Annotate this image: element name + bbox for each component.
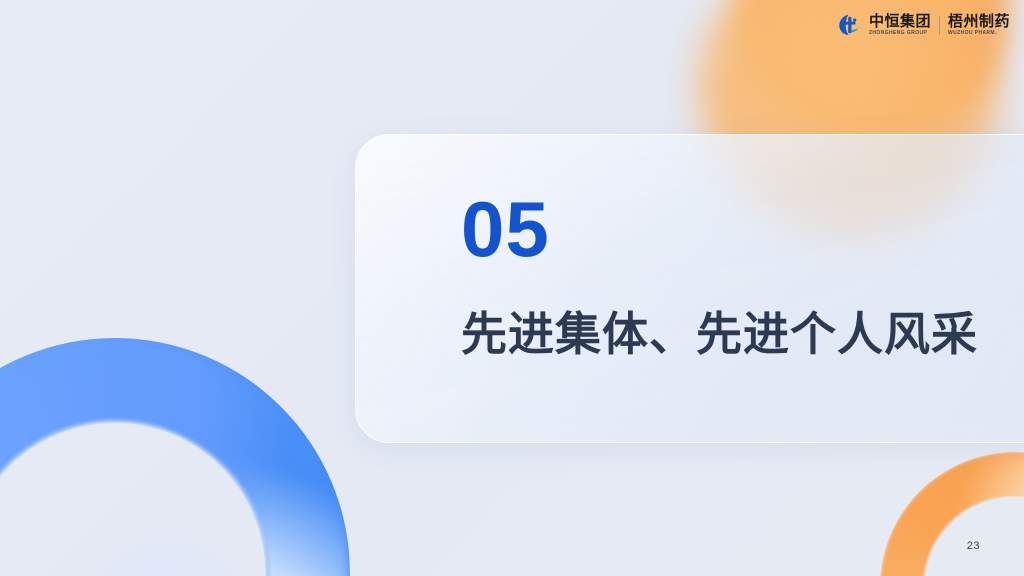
- section-title: 先进集体、先进个人风采: [461, 308, 1024, 361]
- logo-brand-en: ZHONGHENG GROUP: [869, 31, 931, 36]
- logo-wordmark: 中恒集团 ZHONGHENG GROUP 梧州制药 WUZHOU PHARM.: [869, 14, 1010, 37]
- slide-canvas: 05 先进集体、先进个人风采 中恒集团 ZHONGHENG GROUP 梧州制药…: [0, 0, 1024, 576]
- logo-subbrand-cn: 梧州制药: [948, 14, 1010, 29]
- blue-ring-decoration: [0, 338, 350, 576]
- section-card: 05 先进集体、先进个人风采: [355, 134, 1024, 443]
- orange-ring-decoration: [880, 452, 1024, 576]
- orange-ring-shading: [880, 452, 1024, 576]
- card-content: 05 先进集体、先进个人风采: [461, 190, 1024, 361]
- logo-divider: [939, 16, 940, 35]
- logo-brand-secondary: 梧州制药 WUZHOU PHARM.: [948, 14, 1010, 37]
- company-logo: 中恒集团 ZHONGHENG GROUP 梧州制药 WUZHOU PHARM.: [836, 10, 1010, 40]
- zhongheng-logo-mark-icon: [836, 12, 862, 38]
- blue-ring-shading: [0, 338, 350, 576]
- section-number: 05: [461, 190, 1024, 268]
- logo-brand-primary: 中恒集团 ZHONGHENG GROUP: [869, 14, 931, 37]
- logo-brand-cn: 中恒集团: [869, 14, 931, 29]
- page-number: 23: [967, 540, 980, 552]
- logo-subbrand-en: WUZHOU PHARM.: [948, 31, 1010, 36]
